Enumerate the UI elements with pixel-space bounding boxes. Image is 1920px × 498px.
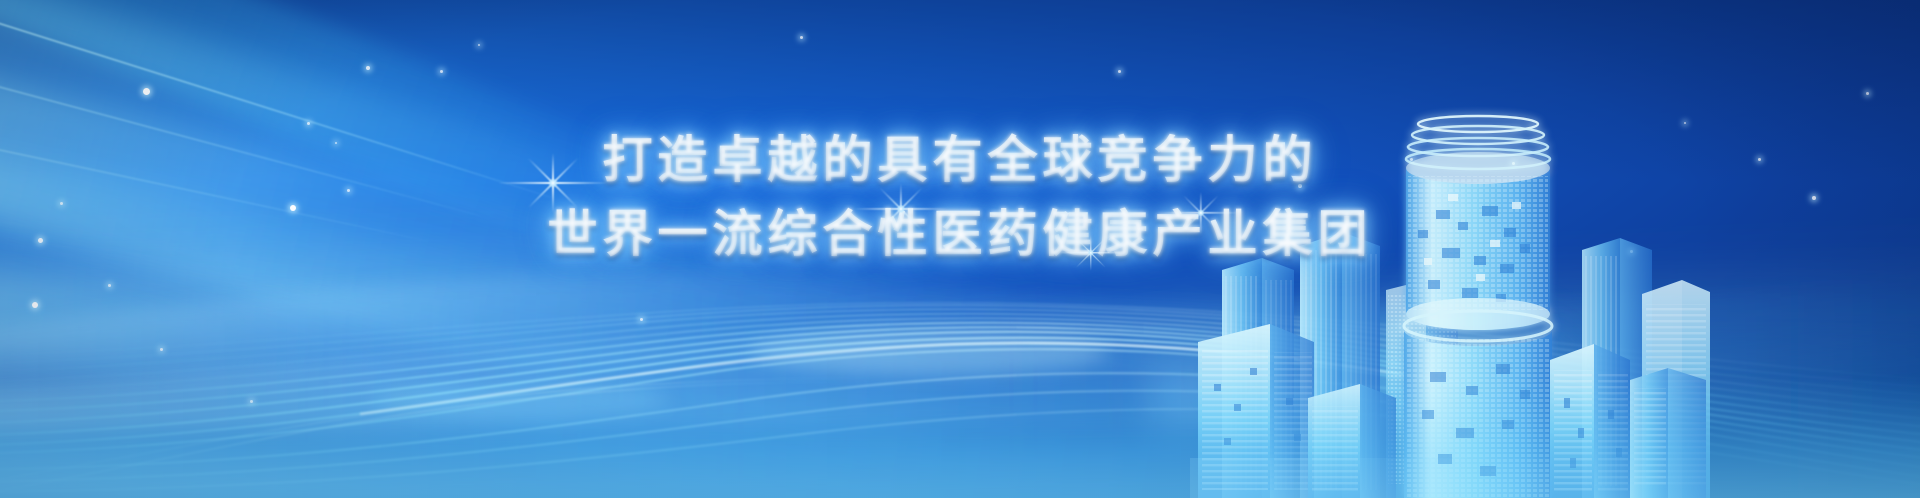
- flare-ray-diagonal-2: [1183, 195, 1218, 230]
- top-shadow-overlay: [0, 0, 1920, 180]
- hero-banner: 打造卓越的具有全球竞争力的 世界一流综合性医药健康产业集团: [0, 0, 1920, 498]
- flare-ray-vertical: [552, 153, 554, 213]
- flare-ray-horizontal: [498, 182, 608, 184]
- particle-dot: [250, 400, 253, 403]
- particle-dot: [290, 205, 296, 211]
- particle-dot: [347, 189, 350, 192]
- flare-ray-horizontal: [854, 208, 948, 210]
- headline-line-1: 打造卓越的具有全球竞争力的: [0, 128, 1920, 192]
- particle-dot: [1298, 184, 1302, 188]
- particle-dot: [38, 238, 43, 243]
- lens-flare-sparkle: [900, 208, 901, 209]
- diagonal-edge-line-1: [0, 10, 551, 198]
- flare-ray-vertical: [900, 183, 902, 234]
- flare-core: [896, 204, 905, 213]
- flare-ray-horizontal: [1058, 252, 1124, 253]
- diagonal-edge-line-3: [0, 132, 429, 242]
- flare-core: [1088, 250, 1094, 256]
- flare-ray-diagonal-2: [527, 157, 578, 208]
- cityscape-glow: [1200, 288, 1620, 458]
- flare-ray-diagonal-2: [1075, 237, 1105, 267]
- particle-dot: [108, 284, 111, 287]
- light-band-2: [0, 0, 1267, 498]
- vignette-overlay: [0, 0, 1920, 498]
- particle-dot: [640, 318, 643, 321]
- headline-block: 打造卓越的具有全球竞争力的 世界一流综合性医药健康产业集团: [0, 128, 1920, 266]
- particle-dot: [1684, 122, 1686, 124]
- particle-dot: [160, 348, 163, 351]
- particle-dot: [800, 36, 803, 39]
- light-band-4: [0, 180, 1173, 498]
- particle-dot: [1118, 70, 1121, 73]
- particle-dot: [478, 44, 480, 46]
- flare-ray-vertical: [1200, 192, 1201, 234]
- light-stream-waves: [0, 0, 1920, 498]
- particle-dot: [440, 70, 443, 73]
- particle-dot: [143, 88, 150, 95]
- flare-core: [1197, 209, 1204, 216]
- particle-dot: [1410, 158, 1413, 161]
- flare-ray-diagonal-1: [879, 187, 922, 230]
- light-band-3: [0, 60, 1345, 498]
- flare-ray-diagonal-1: [1183, 195, 1218, 230]
- flare-ray-vertical: [1090, 235, 1091, 271]
- flare-core: [548, 178, 558, 188]
- particle-dot: [1812, 196, 1816, 200]
- cityscape-illustration: [1190, 98, 1710, 498]
- particle-dot: [1758, 158, 1761, 161]
- water-sheen-overlay: [0, 378, 1920, 498]
- particle-dot: [366, 66, 370, 70]
- light-band-1: [0, 0, 1014, 498]
- lens-flare-sparkle: [552, 182, 553, 183]
- flare-ray-horizontal: [1162, 212, 1239, 213]
- water-base-gradient: [0, 288, 1920, 498]
- flare-ray-diagonal-1: [1075, 237, 1105, 267]
- light-band-5: [0, 0, 720, 293]
- horizontal-glow-3: [1149, 341, 1920, 429]
- lens-flare-sparkle: [1200, 212, 1201, 213]
- headline-line-2: 世界一流综合性医药健康产业集团: [0, 202, 1920, 266]
- lens-flare-sparkle: [1090, 252, 1091, 253]
- horizontal-glow-1: [0, 234, 1101, 356]
- particle-dot: [60, 202, 63, 205]
- diagonal-edge-line-2: [0, 70, 481, 217]
- particle-dot: [1866, 92, 1869, 95]
- particle-dot: [32, 302, 38, 308]
- particle-dot: [335, 142, 337, 144]
- flare-ray-diagonal-1: [527, 157, 578, 208]
- particle-dot: [1630, 250, 1633, 253]
- particle-dot: [307, 122, 310, 125]
- particle-dot: [1512, 162, 1515, 165]
- horizontal-glow-2: [699, 266, 1920, 404]
- flare-ray-diagonal-2: [879, 187, 922, 230]
